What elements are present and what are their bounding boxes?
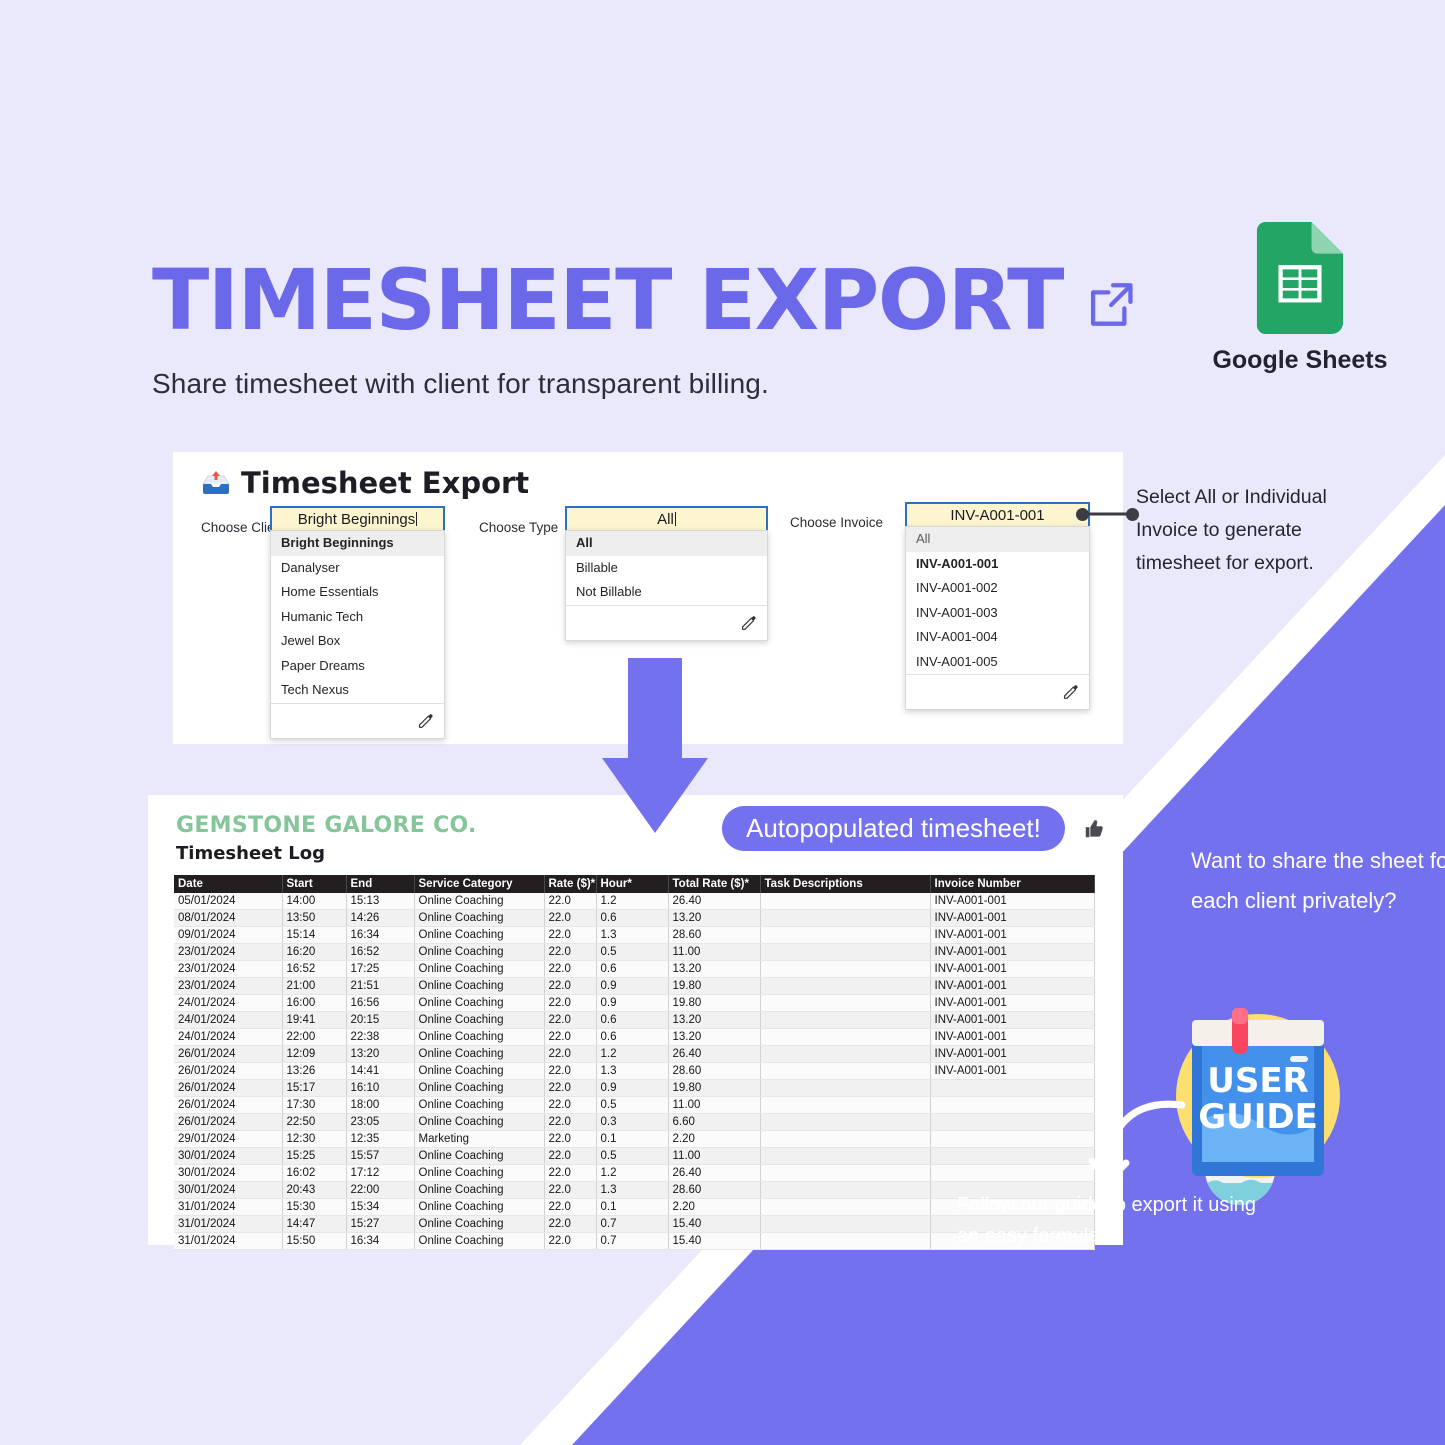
table-cell: 22.0	[544, 1097, 596, 1114]
table-cell: 13:50	[282, 910, 346, 927]
table-cell: 20:15	[346, 1012, 414, 1029]
table-cell: INV-A001-001	[930, 978, 1094, 995]
table-cell: 0.1	[596, 1131, 668, 1148]
table-cell: 30/01/2024	[174, 1182, 282, 1199]
panel-title-text: Timesheet Export	[241, 466, 529, 500]
edit-pencil-icon[interactable]	[740, 614, 757, 631]
table-row: 26/01/202417:3018:00Online Coaching22.00…	[174, 1097, 1094, 1114]
table-cell: 22.0	[544, 961, 596, 978]
table-cell: 22:50	[282, 1114, 346, 1131]
table-cell: INV-A001-001	[930, 1063, 1094, 1080]
curved-arrow-icon	[1070, 1095, 1190, 1195]
dropdown-option[interactable]: Home Essentials	[271, 580, 444, 605]
table-cell: 26/01/2024	[174, 1080, 282, 1097]
table-cell: 19.80	[668, 995, 760, 1012]
table-cell: 12:30	[282, 1131, 346, 1148]
choose-invoice-value: INV-A001-001	[950, 507, 1044, 524]
panel-title: Timesheet Export	[201, 466, 529, 500]
table-row: 26/01/202415:1716:10Online Coaching22.00…	[174, 1080, 1094, 1097]
table-cell	[760, 910, 930, 927]
table-row: 05/01/202414:0015:13Online Coaching22.01…	[174, 893, 1094, 910]
table-cell: 30/01/2024	[174, 1165, 282, 1182]
table-header-cell: Hour*	[596, 875, 668, 893]
table-cell: 17:30	[282, 1097, 346, 1114]
table-cell: 22.0	[544, 927, 596, 944]
table-cell: 28.60	[668, 1063, 760, 1080]
table-cell	[760, 1131, 930, 1148]
table-cell: Online Coaching	[414, 1097, 544, 1114]
choose-client-dropdown[interactable]: Bright Beginnings Danalyser Home Essenti…	[270, 530, 445, 739]
share-export-icon	[1085, 278, 1139, 332]
table-cell	[760, 1063, 930, 1080]
table-cell: Online Coaching	[414, 1012, 544, 1029]
table-row: 23/01/202421:0021:51Online Coaching22.00…	[174, 978, 1094, 995]
table-cell: 26.40	[668, 893, 760, 910]
dropdown-option[interactable]: All	[566, 531, 767, 556]
dropdown-option[interactable]: Paper Dreams	[271, 654, 444, 679]
table-cell	[760, 1148, 930, 1165]
table-cell: 22.0	[544, 1148, 596, 1165]
table-cell: 11.00	[668, 1148, 760, 1165]
table-cell: 0.9	[596, 978, 668, 995]
table-cell	[760, 1233, 930, 1250]
table-header-cell: Service Category	[414, 875, 544, 893]
table-cell: INV-A001-001	[930, 910, 1094, 927]
table-cell: 15:50	[282, 1233, 346, 1250]
table-cell: 2.20	[668, 1131, 760, 1148]
table-header-cell: Total Rate ($)*	[668, 875, 760, 893]
table-cell	[760, 1012, 930, 1029]
table-cell: 0.5	[596, 1097, 668, 1114]
table-cell: 16:10	[346, 1080, 414, 1097]
down-arrow-icon	[600, 658, 710, 833]
table-cell: 29/01/2024	[174, 1131, 282, 1148]
inbox-tray-icon	[201, 470, 231, 496]
table-cell: 0.6	[596, 1012, 668, 1029]
table-cell: 19.80	[668, 978, 760, 995]
table-cell: 21:51	[346, 978, 414, 995]
table-header-cell: Start	[282, 875, 346, 893]
google-sheets-label: Google Sheets	[1200, 346, 1400, 375]
table-cell: 16:00	[282, 995, 346, 1012]
table-cell	[760, 1080, 930, 1097]
table-cell: 15:57	[346, 1148, 414, 1165]
table-cell: 0.9	[596, 995, 668, 1012]
table-cell: 16:52	[282, 961, 346, 978]
page-header: TIMESHEET EXPORT Share timesheet with cl…	[152, 258, 1139, 400]
table-cell: 0.5	[596, 944, 668, 961]
table-cell: 13.20	[668, 1012, 760, 1029]
table-row: 30/01/202415:2515:57Online Coaching22.00…	[174, 1148, 1094, 1165]
choose-type-combobox[interactable]: All	[565, 506, 768, 532]
table-cell: 16:34	[346, 927, 414, 944]
table-cell: 22:00	[282, 1029, 346, 1046]
table-cell: 08/01/2024	[174, 910, 282, 927]
table-row: 29/01/202412:3012:35Marketing22.00.12.20	[174, 1131, 1094, 1148]
table-cell: 0.5	[596, 1148, 668, 1165]
table-cell: 05/01/2024	[174, 893, 282, 910]
table-cell: INV-A001-001	[930, 961, 1094, 978]
autopopulated-badge: Autopopulated timesheet!	[722, 806, 1065, 851]
dropdown-footer	[906, 674, 1089, 709]
page-subtitle: Share timesheet with client for transpar…	[152, 368, 1139, 400]
table-cell: 1.2	[596, 893, 668, 910]
table-cell	[760, 1216, 930, 1233]
table-cell: 22.0	[544, 1165, 596, 1182]
table-cell: 23/01/2024	[174, 944, 282, 961]
dropdown-option[interactable]: Tech Nexus	[271, 678, 444, 703]
table-cell: 22.0	[544, 1216, 596, 1233]
table-cell: Online Coaching	[414, 1165, 544, 1182]
choose-type-value: All	[657, 511, 674, 528]
table-cell	[760, 978, 930, 995]
table-cell: 16:56	[346, 995, 414, 1012]
dropdown-option[interactable]: INV-A001-004	[906, 625, 1089, 650]
table-cell: 24/01/2024	[174, 995, 282, 1012]
dropdown-option[interactable]: Not Billable	[566, 580, 767, 605]
table-cell: 15:17	[282, 1080, 346, 1097]
table-cell: 22.0	[544, 1182, 596, 1199]
table-cell: INV-A001-001	[930, 893, 1094, 910]
share-privately-question: Want to share the sheet for each client …	[1191, 841, 1445, 921]
table-row: 24/01/202419:4120:15Online Coaching22.00…	[174, 1012, 1094, 1029]
table-cell: 22.0	[544, 893, 596, 910]
table-cell: 16:52	[346, 944, 414, 961]
table-cell: 22.0	[544, 910, 596, 927]
table-row: 23/01/202416:2016:52Online Coaching22.00…	[174, 944, 1094, 961]
table-cell: 16:02	[282, 1165, 346, 1182]
table-cell: 22.0	[544, 1199, 596, 1216]
table-cell: Online Coaching	[414, 927, 544, 944]
table-cell: Online Coaching	[414, 1063, 544, 1080]
google-sheets-badge: Google Sheets	[1200, 222, 1400, 375]
choose-invoice-combobox[interactable]: INV-A001-001	[905, 502, 1090, 528]
table-cell: Online Coaching	[414, 995, 544, 1012]
dropdown-option[interactable]: Bright Beginnings	[271, 531, 444, 556]
table-cell: 26.40	[668, 1165, 760, 1182]
table-cell: 26/01/2024	[174, 1114, 282, 1131]
table-row: 23/01/202416:5217:25Online Coaching22.00…	[174, 961, 1094, 978]
table-cell: Online Coaching	[414, 961, 544, 978]
table-cell: 24/01/2024	[174, 1029, 282, 1046]
dropdown-option[interactable]: Danalyser	[271, 556, 444, 581]
table-cell: 0.6	[596, 910, 668, 927]
table-cell: Online Coaching	[414, 1233, 544, 1250]
table-cell: INV-A001-001	[930, 927, 1094, 944]
table-row: 26/01/202413:2614:41Online Coaching22.01…	[174, 1063, 1094, 1080]
table-cell: 14:47	[282, 1216, 346, 1233]
dropdown-option[interactable]: INV-A001-005	[906, 650, 1089, 675]
table-cell: 1.2	[596, 1165, 668, 1182]
table-cell: 22.0	[544, 944, 596, 961]
table-header-cell: Date	[174, 875, 282, 893]
table-cell: INV-A001-001	[930, 995, 1094, 1012]
table-cell: 12:35	[346, 1131, 414, 1148]
timesheet-log-title: Timesheet Log	[176, 843, 325, 864]
table-cell: 22.0	[544, 1012, 596, 1029]
table-cell: Online Coaching	[414, 1046, 544, 1063]
table-cell: 16:34	[346, 1233, 414, 1250]
dropdown-option[interactable]: INV-A001-003	[906, 601, 1089, 626]
table-cell: 22.0	[544, 1131, 596, 1148]
dropdown-option[interactable]: Billable	[566, 556, 767, 581]
dropdown-option[interactable]: INV-A001-001	[906, 552, 1089, 577]
table-cell: 22:00	[346, 1182, 414, 1199]
table-row: 31/01/202414:4715:27Online Coaching22.00…	[174, 1216, 1094, 1233]
follow-guide-text: Follow our guide to export it using an e…	[957, 1190, 1257, 1252]
invoice-note-callout: Select All or Individual Invoice to gene…	[1136, 481, 1366, 580]
table-row: 31/01/202415:5016:34Online Coaching22.00…	[174, 1233, 1094, 1250]
table-cell: 13.20	[668, 961, 760, 978]
table-cell: Online Coaching	[414, 1080, 544, 1097]
table-cell: 23/01/2024	[174, 978, 282, 995]
table-cell: 0.9	[596, 1080, 668, 1097]
table-header-cell: Invoice Number	[930, 875, 1094, 893]
table-cell: 1.2	[596, 1046, 668, 1063]
table-cell: 23/01/2024	[174, 961, 282, 978]
table-cell: 2.20	[668, 1199, 760, 1216]
table-cell: 19.80	[668, 1080, 760, 1097]
table-cell: 22.0	[544, 1080, 596, 1097]
table-row: 24/01/202416:0016:56Online Coaching22.00…	[174, 995, 1094, 1012]
google-sheets-icon	[1256, 222, 1344, 334]
table-cell	[760, 1046, 930, 1063]
table-cell: 0.7	[596, 1216, 668, 1233]
table-header-row: DateStartEndService CategoryRate ($)*Hou…	[174, 875, 1094, 893]
table-cell: 15:34	[346, 1199, 414, 1216]
table-cell	[760, 1029, 930, 1046]
table-cell: 30/01/2024	[174, 1148, 282, 1165]
table-cell: 16:20	[282, 944, 346, 961]
table-cell: 26/01/2024	[174, 1097, 282, 1114]
edit-pencil-icon[interactable]	[1062, 683, 1079, 700]
table-row: 26/01/202422:5023:05Online Coaching22.00…	[174, 1114, 1094, 1131]
table-cell: 22:38	[346, 1029, 414, 1046]
table-cell: 14:00	[282, 893, 346, 910]
table-cell: 0.7	[596, 1233, 668, 1250]
table-cell: 15:25	[282, 1148, 346, 1165]
table-cell: 1.3	[596, 1182, 668, 1199]
table-cell: INV-A001-001	[930, 1046, 1094, 1063]
edit-pencil-icon[interactable]	[417, 712, 434, 729]
table-cell: 15.40	[668, 1216, 760, 1233]
table-cell: 28.60	[668, 1182, 760, 1199]
choose-client-value: Bright Beginnings	[298, 511, 416, 528]
table-cell: Online Coaching	[414, 944, 544, 961]
table-cell: Online Coaching	[414, 978, 544, 995]
table-row: 08/01/202413:5014:26Online Coaching22.00…	[174, 910, 1094, 927]
thumbs-up-icon	[1083, 818, 1105, 840]
dropdown-option[interactable]: All	[906, 527, 1089, 552]
table-cell: 13:26	[282, 1063, 346, 1080]
table-row: 09/01/202415:1416:34Online Coaching22.01…	[174, 927, 1094, 944]
table-cell: 21:00	[282, 978, 346, 995]
table-cell: 18:00	[346, 1097, 414, 1114]
table-cell: 15:14	[282, 927, 346, 944]
label-choose-type: Choose Type	[479, 520, 558, 535]
table-cell: 22.0	[544, 1063, 596, 1080]
choose-invoice-dropdown[interactable]: All INV-A001-001 INV-A001-002 INV-A001-0…	[905, 526, 1090, 710]
table-cell: 1.3	[596, 1063, 668, 1080]
table-cell	[760, 1182, 930, 1199]
choose-type-dropdown[interactable]: All Billable Not Billable	[565, 530, 768, 641]
table-header-cell: Rate ($)*	[544, 875, 596, 893]
table-header-cell: End	[346, 875, 414, 893]
table-cell	[760, 1114, 930, 1131]
table-cell: 31/01/2024	[174, 1233, 282, 1250]
table-cell: 13:20	[346, 1046, 414, 1063]
table-cell	[760, 1097, 930, 1114]
table-cell: 22.0	[544, 1114, 596, 1131]
table-cell: Online Coaching	[414, 910, 544, 927]
text-caret	[416, 512, 417, 526]
table-cell	[760, 995, 930, 1012]
guide-text-line2: GUIDE	[1198, 1097, 1318, 1137]
table-cell: 13.20	[668, 1029, 760, 1046]
table-cell	[760, 961, 930, 978]
table-cell: 23:05	[346, 1114, 414, 1131]
table-cell: 15:13	[346, 893, 414, 910]
table-cell: 31/01/2024	[174, 1216, 282, 1233]
table-cell: 13.20	[668, 910, 760, 927]
table-cell: 19:41	[282, 1012, 346, 1029]
table-cell	[760, 927, 930, 944]
table-cell: 15:30	[282, 1199, 346, 1216]
table-cell: 0.3	[596, 1114, 668, 1131]
connector-dot-start	[1076, 508, 1089, 521]
connector-dot-end	[1126, 508, 1139, 521]
table-cell: 26/01/2024	[174, 1063, 282, 1080]
table-cell: 20:43	[282, 1182, 346, 1199]
table-cell: 17:25	[346, 961, 414, 978]
dropdown-option[interactable]: INV-A001-002	[906, 576, 1089, 601]
table-cell: INV-A001-001	[930, 1029, 1094, 1046]
table-row: 30/01/202420:4322:00Online Coaching22.01…	[174, 1182, 1094, 1199]
table-cell: Online Coaching	[414, 1216, 544, 1233]
table-row: 31/01/202415:3015:34Online Coaching22.00…	[174, 1199, 1094, 1216]
dropdown-footer	[271, 703, 444, 738]
table-row: 30/01/202416:0217:12Online Coaching22.01…	[174, 1165, 1094, 1182]
table-cell: 0.6	[596, 1029, 668, 1046]
table-cell: 0.1	[596, 1199, 668, 1216]
table-cell: 11.00	[668, 1097, 760, 1114]
dropdown-option[interactable]: Humanic Tech	[271, 605, 444, 630]
timesheet-log-panel: GEMSTONE GALORE CO. Timesheet Log DateSt…	[148, 795, 1123, 1245]
table-cell: 15.40	[668, 1233, 760, 1250]
table-cell: 22.0	[544, 1029, 596, 1046]
table-cell	[930, 1080, 1094, 1097]
table-cell: 26/01/2024	[174, 1046, 282, 1063]
table-cell: 09/01/2024	[174, 927, 282, 944]
table-body: 05/01/202414:0015:13Online Coaching22.01…	[174, 893, 1094, 1250]
table-cell: Online Coaching	[414, 1148, 544, 1165]
table-cell: INV-A001-001	[930, 1012, 1094, 1029]
table-cell	[760, 893, 930, 910]
table-cell: 22.0	[544, 995, 596, 1012]
company-name: GEMSTONE GALORE CO.	[176, 813, 477, 838]
thumbs-up-badge	[1078, 813, 1110, 845]
table-cell: Online Coaching	[414, 1029, 544, 1046]
label-choose-invoice: Choose Invoice	[790, 515, 883, 530]
table-row: 26/01/202412:0913:20Online Coaching22.01…	[174, 1046, 1094, 1063]
table-cell: 17:12	[346, 1165, 414, 1182]
table-cell: Marketing	[414, 1131, 544, 1148]
page-title: TIMESHEET EXPORT	[152, 258, 1063, 342]
table-cell	[760, 1199, 930, 1216]
table-cell: Online Coaching	[414, 1199, 544, 1216]
table-cell: 22.0	[544, 1046, 596, 1063]
text-caret	[675, 512, 676, 526]
guide-text-line1: USER	[1207, 1061, 1309, 1101]
choose-client-combobox[interactable]: Bright Beginnings	[270, 506, 445, 532]
table-cell: 22.0	[544, 978, 596, 995]
table-cell: INV-A001-001	[930, 944, 1094, 961]
table-cell: 11.00	[668, 944, 760, 961]
table-cell: 0.6	[596, 961, 668, 978]
table-cell: 14:41	[346, 1063, 414, 1080]
table-cell: Online Coaching	[414, 1114, 544, 1131]
table-cell: 31/01/2024	[174, 1199, 282, 1216]
table-cell: 14:26	[346, 910, 414, 927]
dropdown-option[interactable]: Jewel Box	[271, 629, 444, 654]
table-cell: 15:27	[346, 1216, 414, 1233]
table-cell: Online Coaching	[414, 1182, 544, 1199]
table-cell	[760, 944, 930, 961]
table-row: 24/01/202422:0022:38Online Coaching22.00…	[174, 1029, 1094, 1046]
table-cell: 24/01/2024	[174, 1012, 282, 1029]
table-cell: 22.0	[544, 1233, 596, 1250]
table-cell: 12:09	[282, 1046, 346, 1063]
table-cell	[760, 1165, 930, 1182]
table-cell: Online Coaching	[414, 893, 544, 910]
table-cell: 28.60	[668, 927, 760, 944]
table-cell: 1.3	[596, 927, 668, 944]
table-cell: 26.40	[668, 1046, 760, 1063]
table-cell: 6.60	[668, 1114, 760, 1131]
table-header-cell: Task Descriptions	[760, 875, 930, 893]
dropdown-footer	[566, 605, 767, 640]
